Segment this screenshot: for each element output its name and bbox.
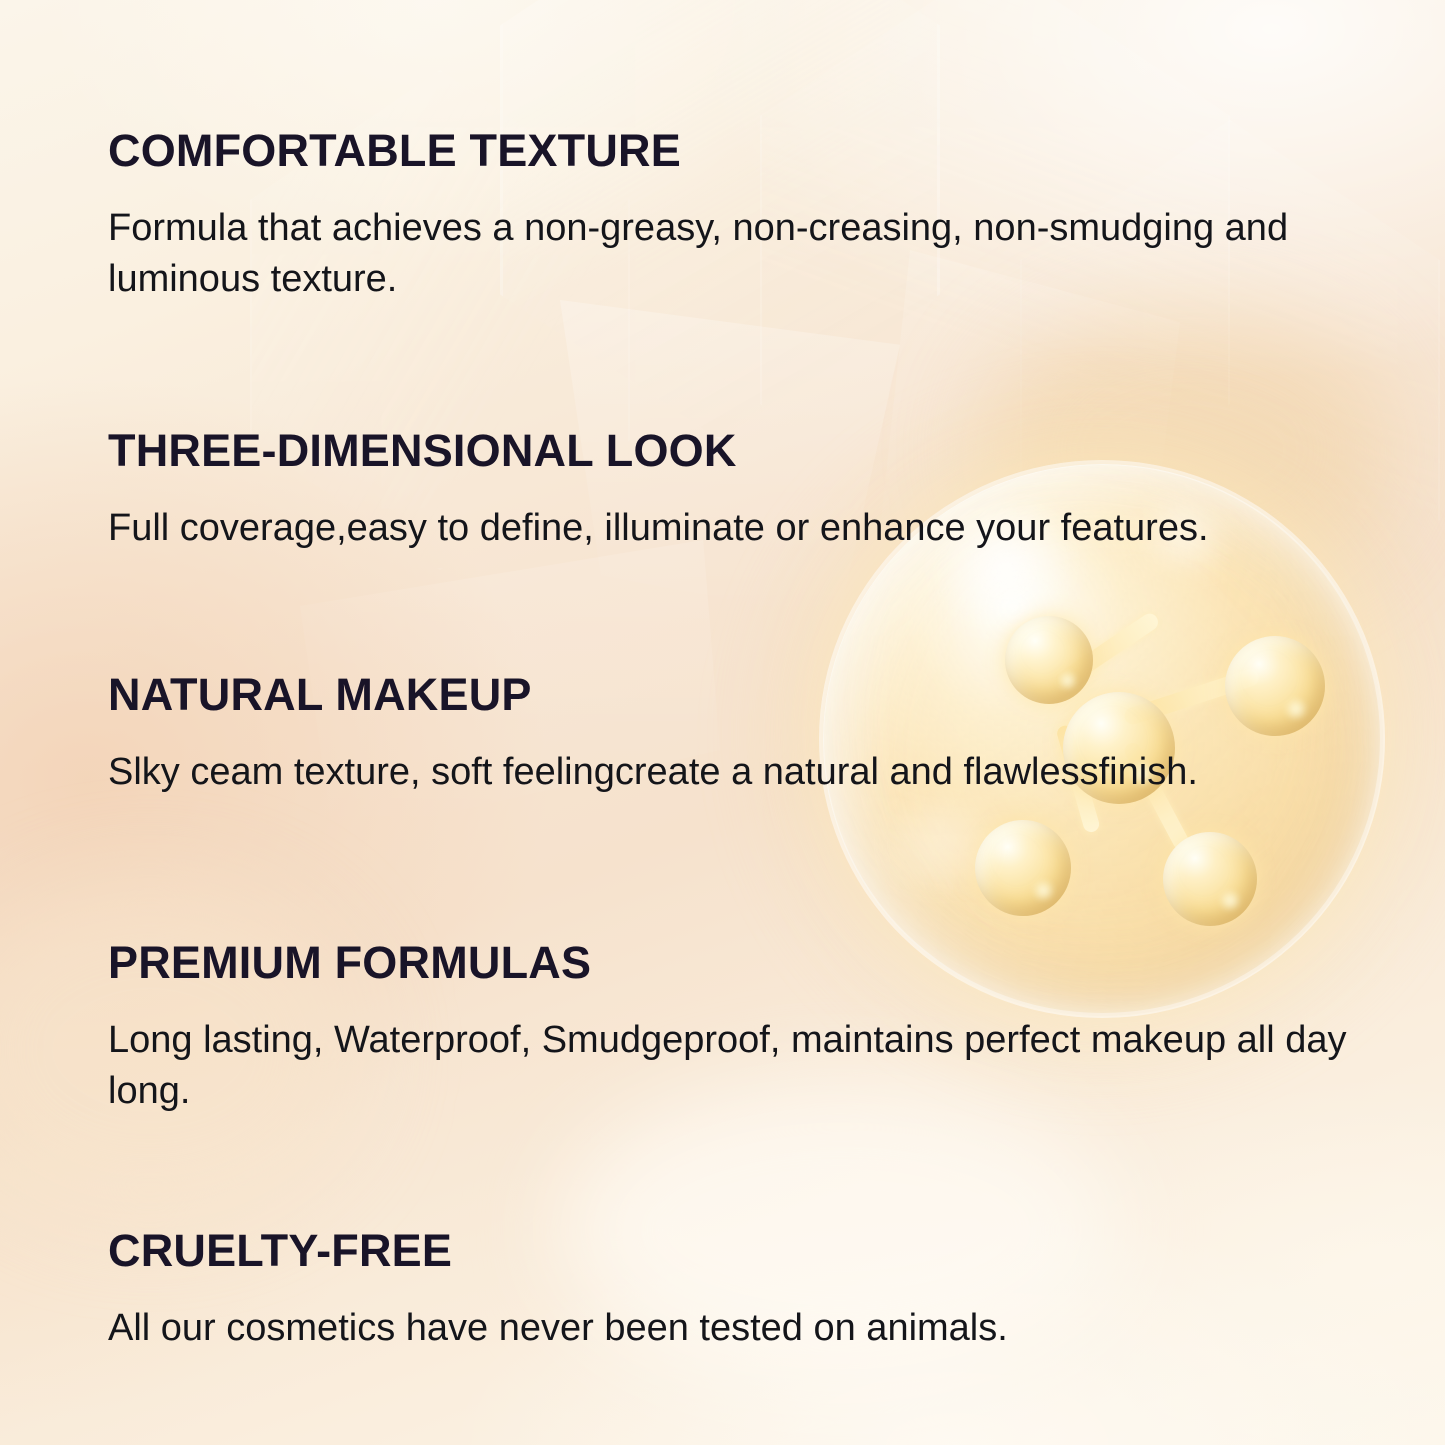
feature-list: COMFORTABLE TEXTURE Formula that achieve… (0, 0, 1445, 1445)
feature-description: Long lasting, Waterproof, Smudgeproof, m… (108, 1015, 1363, 1116)
feature-description: All our cosmetics have never been tested… (108, 1303, 1363, 1354)
feature-title: PREMIUM FORMULAS (108, 940, 1375, 985)
feature-title: CRUELTY-FREE (108, 1228, 1375, 1273)
feature-block-premium-formulas: PREMIUM FORMULAS Long lasting, Waterproo… (108, 940, 1375, 1116)
feature-title: COMFORTABLE TEXTURE (108, 128, 1375, 173)
feature-title: THREE-DIMENSIONAL LOOK (108, 428, 1375, 473)
feature-description: Formula that achieves a non-greasy, non-… (108, 203, 1363, 304)
feature-block-three-dimensional-look: THREE-DIMENSIONAL LOOK Full coverage,eas… (108, 428, 1375, 554)
feature-title: NATURAL MAKEUP (108, 672, 1375, 717)
feature-block-natural-makeup: NATURAL MAKEUP Slky ceam texture, soft f… (108, 672, 1375, 798)
feature-block-cruelty-free: CRUELTY-FREE All our cosmetics have neve… (108, 1228, 1375, 1354)
feature-description: Slky ceam texture, soft feelingcreate a … (108, 747, 1363, 798)
feature-block-comfortable-texture: COMFORTABLE TEXTURE Formula that achieve… (108, 128, 1375, 304)
feature-description: Full coverage,easy to define, illuminate… (108, 503, 1363, 554)
product-feature-poster: COMFORTABLE TEXTURE Formula that achieve… (0, 0, 1445, 1445)
